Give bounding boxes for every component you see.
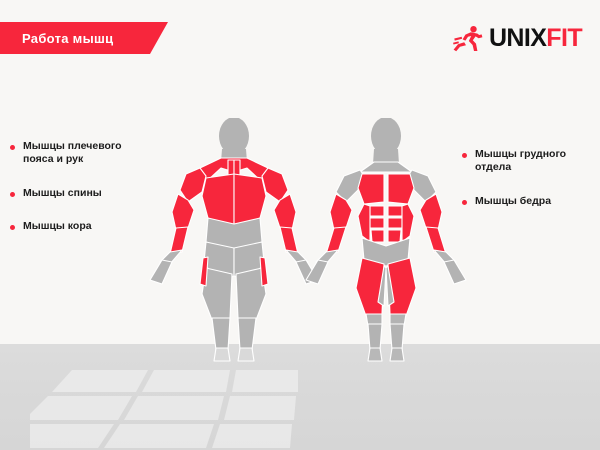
back-view-svg [148,118,320,362]
logo-word-fit: FIT [546,26,582,51]
logo-wordmark: UNIXFIT [489,26,582,51]
muscle-abs-mid-right [388,218,402,228]
muscle-pectoral-right [388,174,414,204]
muscle-oblique-right [402,204,414,242]
list-item: Мышцы плечевого пояса и рук [10,140,170,167]
label-list-left: Мышцы плечевого пояса и рук Мышцы спины … [10,140,170,254]
hand-right [444,260,466,284]
muscle-abs-upper-right [388,206,402,216]
bullet-icon [10,192,15,197]
muscle-abs-lower-right [388,230,401,242]
muscle-pectoral-left [358,174,384,204]
slide-root: Работа мышц UNIXFIT Мышцы плечевого пояс… [0,0,600,450]
muscle-quadriceps-left [356,258,384,316]
list-item: Мышцы кора [10,220,170,233]
running-man-icon [453,24,483,52]
list-item: Мышцы спины [10,187,170,200]
foot-left [214,348,230,361]
list-item: Мышцы бедра [462,195,600,208]
title-banner: Работа мышц [0,22,168,54]
foot-right [238,348,254,361]
muscle-quadriceps-right [388,258,416,316]
foot-right [390,348,404,361]
calf-left [368,324,382,350]
muscle-abs-lower-left [371,230,384,242]
calf-left [212,318,230,350]
anatomy-figure-back-view [148,118,320,362]
anatomy-figure-front-view [300,118,472,362]
muscle-oblique-left [358,204,370,242]
hand-left [306,260,328,284]
muscle-label: Мышцы спины [23,187,102,200]
calf-right [390,324,404,350]
bullet-icon [10,145,15,150]
list-item: Мышцы грудного отдела [462,148,600,175]
muscle-label: Мышцы бедра [475,195,551,208]
hand-left [150,260,172,284]
calf-right [238,318,256,350]
muscle-label: Мышцы грудного отдела [475,148,600,175]
brand-logo: UNIXFIT [453,24,582,52]
page-title: Работа мышц [0,31,113,46]
bullet-icon [10,225,15,230]
muscle-abs-mid-left [370,218,384,228]
label-list-right: Мышцы грудного отдела Мышцы бедра [462,148,600,228]
muscle-abs-upper-left [370,206,384,216]
front-view-svg [300,118,472,362]
logo-word-unix: UNIX [489,26,546,51]
muscle-label: Мышцы кора [23,220,92,233]
muscle-outer-thigh-right [260,257,268,286]
clavicle-area [360,162,412,172]
muscle-label: Мышцы плечевого пояса и рук [23,140,153,167]
muscle-outer-thigh-left [200,257,208,286]
foot-left [368,348,382,361]
